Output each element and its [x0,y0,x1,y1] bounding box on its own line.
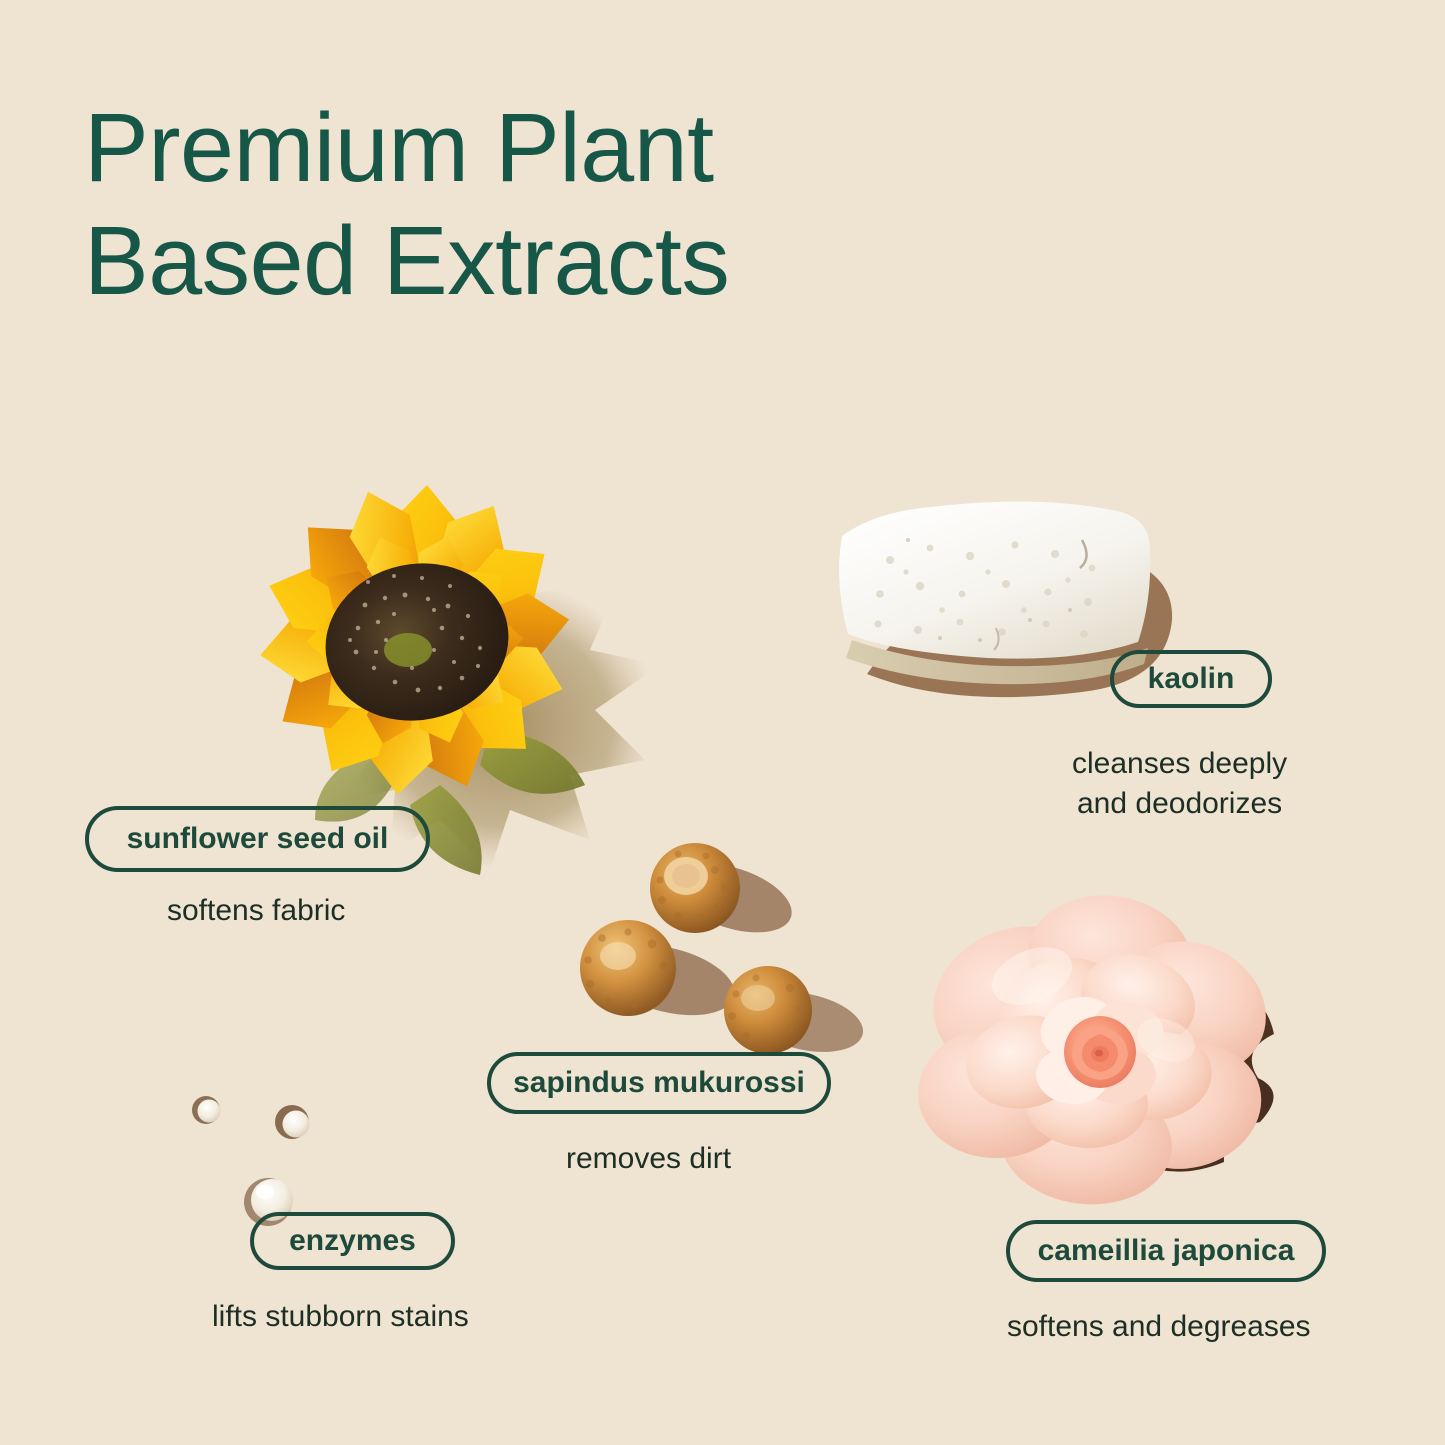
camellia-center [1064,1016,1136,1088]
ingredient-description-enzymes: lifts stubborn stains [212,1297,469,1337]
page-title: Premium Plant Based Extracts [84,92,984,317]
ingredient-label-text: sapindus mukurossi [513,1066,805,1100]
ingredient-label-text: enzymes [289,1224,416,1258]
ingredient-label-sunflower[interactable]: sunflower seed oil [85,806,430,872]
soap-berry [580,920,676,1016]
ingredient-label-text: cameillia japonica [1038,1234,1295,1268]
ingredient-label-text: kaolin [1148,662,1235,696]
ingredient-label-text: sunflower seed oil [127,822,389,856]
enzyme-granule [192,1096,221,1124]
camellia-flower-photo [900,880,1330,1230]
ingredient-description-sapindus: removes dirt [566,1139,731,1179]
soap-berry [724,966,812,1054]
ingredient-label-sapindus[interactable]: sapindus mukurossi [487,1052,831,1114]
ingredient-label-kaolin[interactable]: kaolin [1110,650,1272,708]
ingredient-description-camellia: softens and degreases [1007,1307,1311,1347]
ingredient-label-camellia[interactable]: cameillia japonica [1006,1220,1326,1282]
page-title-line-1: Premium Plant [84,92,984,205]
ingredient-label-enzymes[interactable]: enzymes [250,1212,455,1270]
soap-berries-photo [560,840,860,1060]
sunflower-photo [190,400,660,870]
soap-berry [650,843,740,933]
infographic-canvas: Premium Plant Based Extracts [0,0,1445,1445]
ingredient-description-kaolin: cleanses deeply and deodorizes [1072,744,1287,823]
enzyme-granule [275,1105,310,1139]
ingredient-description-sunflower: softens fabric [167,891,345,931]
page-title-line-2: Based Extracts [84,205,984,318]
